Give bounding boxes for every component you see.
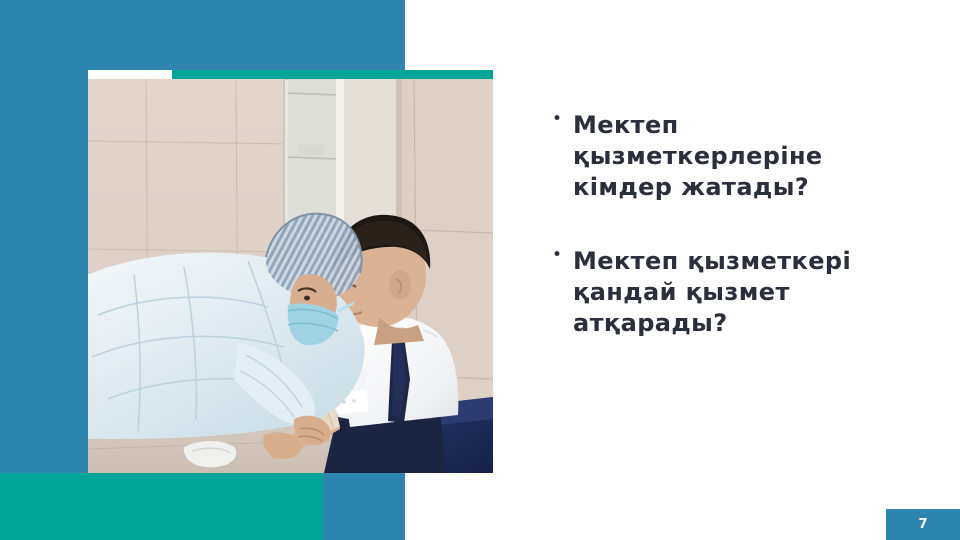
- slide-number-text: 7: [918, 518, 927, 531]
- decor-blue-top-band: [0, 0, 405, 70]
- slide-canvas: • Мектеп қызметкерлеріне кімдер жатады? …: [0, 0, 960, 540]
- list-item: • Мектеп қызметкерлеріне кімдер жатады?: [552, 110, 922, 204]
- slide-number-badge: 7: [886, 509, 960, 540]
- bullet-marker-icon: •: [552, 110, 573, 119]
- decor-blue-left-band: [0, 70, 88, 473]
- list-item: • Мектеп қызметкері қандай қызмет атқара…: [552, 246, 922, 340]
- bullet-text: Мектеп қызметкерлеріне кімдер жатады?: [573, 110, 922, 204]
- decor-blue-bottom-band: [323, 473, 405, 540]
- clinic-photo: [88, 79, 493, 473]
- decor-teal-accent-bar: [172, 70, 493, 79]
- bullet-marker-icon: •: [552, 246, 573, 255]
- decor-teal-bottom-band: [0, 473, 323, 540]
- bullet-list: • Мектеп қызметкерлеріне кімдер жатады? …: [552, 110, 922, 381]
- bullet-text: Мектеп қызметкері қандай қызмет атқарады…: [573, 246, 922, 340]
